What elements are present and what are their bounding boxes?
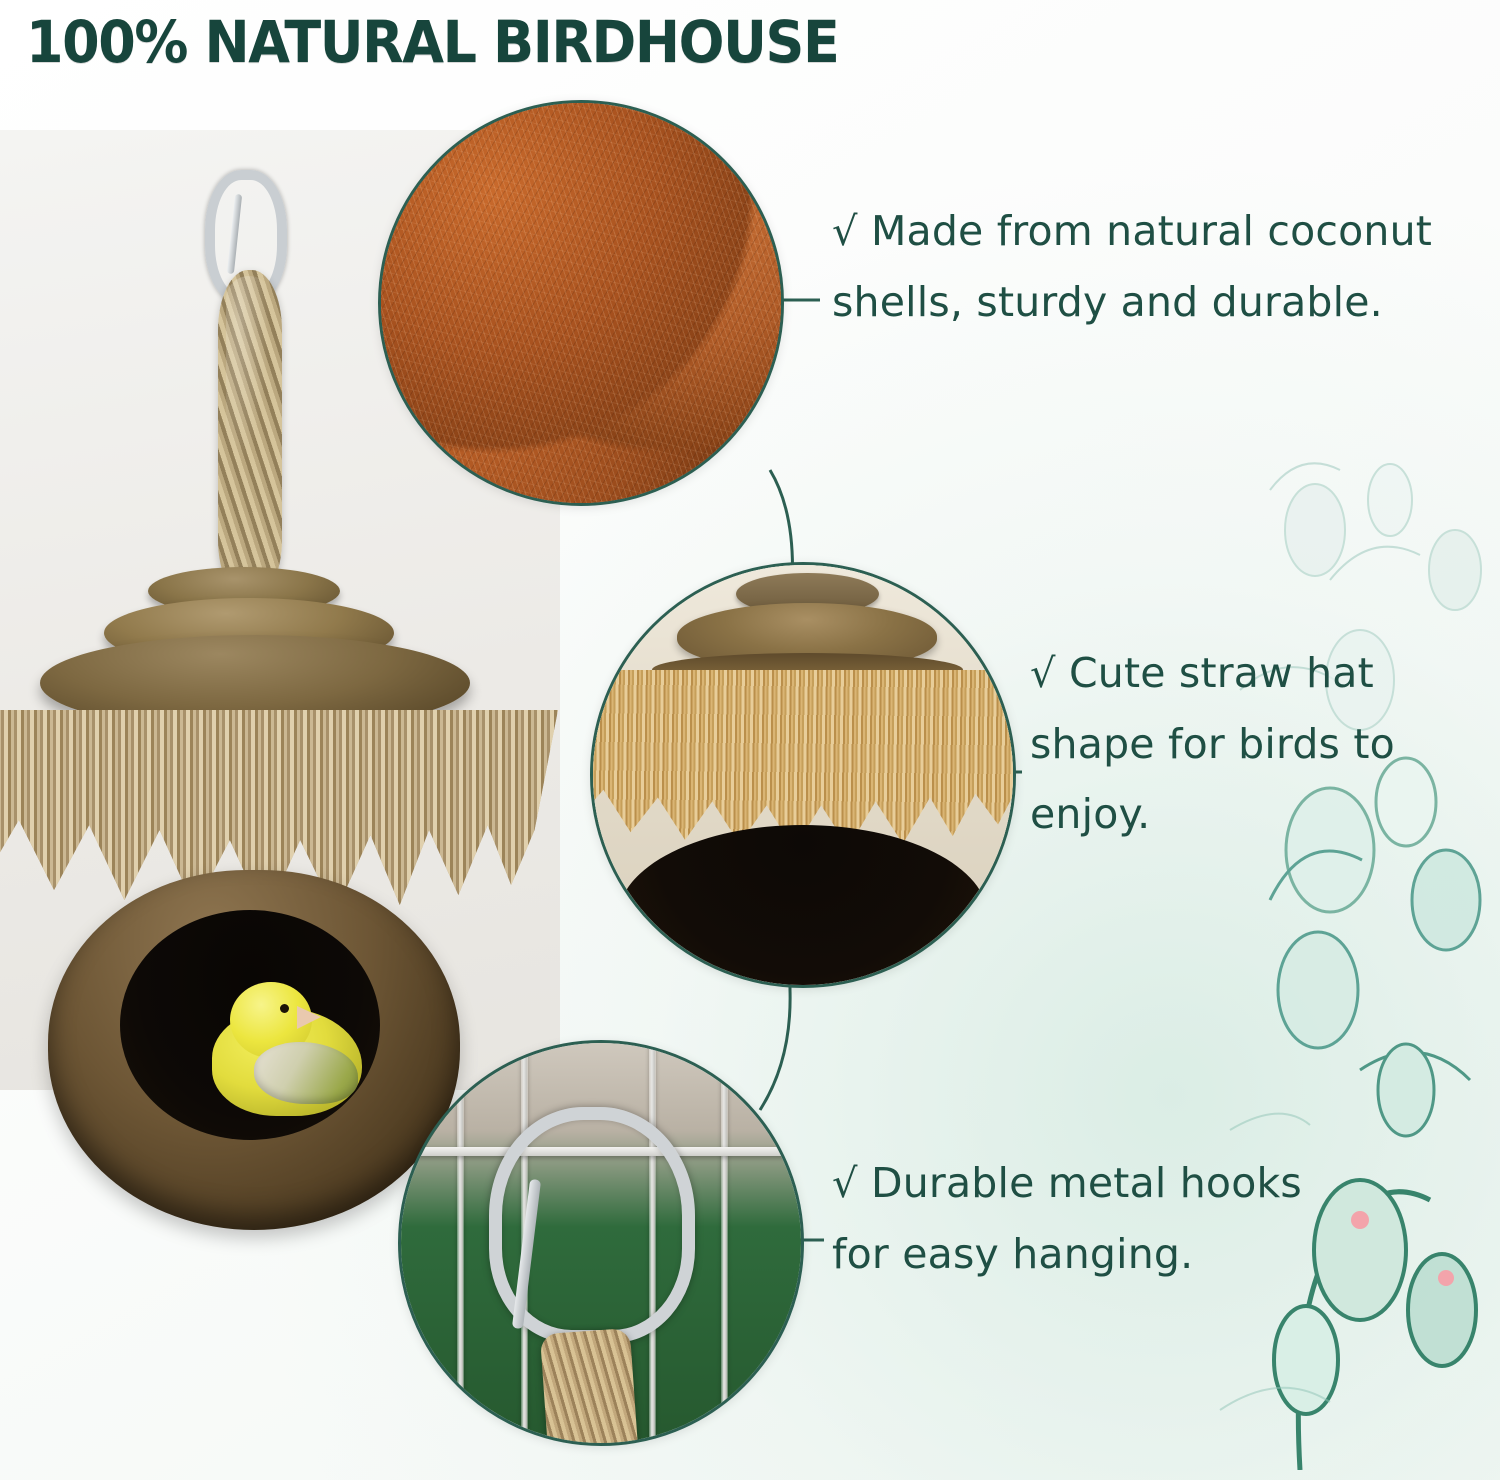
metal-hook-closeup-photo (398, 1040, 804, 1446)
yellow-bird (202, 978, 382, 1128)
feature-text-natural-coconut: √ Made from natural coconut shells, stur… (832, 196, 1442, 337)
feature-label: Made from natural coconut shells, sturdy… (832, 207, 1432, 326)
coconut-shells-image (381, 103, 781, 503)
feature-text-straw-hat: √ Cute straw hat shape for birds to enjo… (1030, 638, 1450, 850)
feature-text-metal-hooks: √ Durable metal hooks for easy hanging. (832, 1148, 1352, 1289)
coconut-shells-photo (378, 100, 784, 506)
hanging-rope (540, 1328, 640, 1446)
feature-label: Cute straw hat shape for birds to enjoy. (1030, 649, 1395, 838)
feature-label: Durable metal hooks for easy hanging. (832, 1159, 1302, 1278)
straw-hat-closeup-photo (590, 562, 1016, 988)
page-title: 100% NATURAL BIRDHOUSE (26, 8, 838, 76)
cage-bar (457, 1043, 464, 1443)
decorative-cactus-plants (1210, 430, 1500, 1470)
straw-hat-image (593, 565, 1013, 985)
check-icon: √ (832, 1161, 858, 1207)
check-icon: √ (832, 209, 858, 255)
check-icon: √ (1030, 651, 1056, 697)
hanging-rope (218, 270, 282, 600)
cage-bar (721, 1043, 728, 1443)
bird-eye (280, 1004, 289, 1013)
metal-hook-image (401, 1043, 801, 1443)
bird-beak (297, 1006, 321, 1029)
